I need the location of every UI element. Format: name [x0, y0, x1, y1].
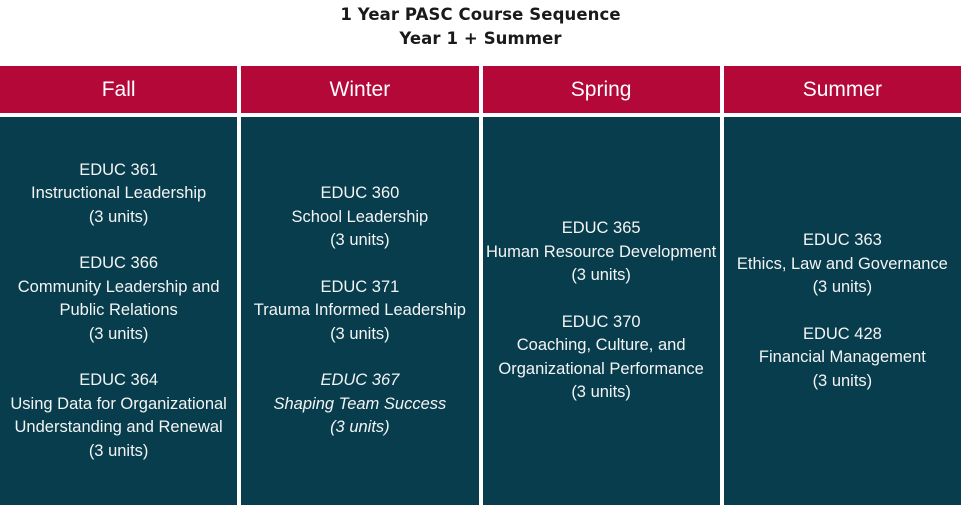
course-entry: EDUC 428Financial Management(3 units) [726, 323, 959, 394]
course-units: (3 units) [2, 206, 235, 230]
course-name: Human Resource Development [485, 241, 718, 265]
course-entry: EDUC 371Trauma Informed Leadership(3 uni… [243, 276, 476, 347]
course-entry: EDUC 370Coaching, Culture, and Organizat… [485, 311, 718, 405]
course-entry: EDUC 363Ethics, Law and Governance(3 uni… [726, 229, 959, 300]
course-list-fall: EDUC 361Instructional Leadership(3 units… [2, 159, 235, 464]
course-units: (3 units) [2, 440, 235, 464]
column-header-spring: Spring [483, 66, 720, 113]
course-units: (3 units) [485, 264, 718, 288]
table-header-row: Fall Winter Spring Summer [0, 66, 961, 113]
course-name: Financial Management [726, 346, 959, 370]
course-entry: EDUC 367Shaping Team Success(3 units) [243, 369, 476, 440]
course-name: Community Leadership and Public Relation… [2, 276, 235, 323]
page-title: 1 Year PASC Course Sequence Year 1 + Sum… [0, 0, 961, 51]
course-code: EDUC 370 [485, 311, 718, 335]
course-name: Using Data for Organizational Understand… [2, 393, 235, 440]
course-entry: EDUC 360School Leadership(3 units) [243, 182, 476, 253]
course-code: EDUC 366 [2, 252, 235, 276]
course-units: (3 units) [2, 323, 235, 347]
course-units: (3 units) [243, 229, 476, 253]
course-units: (3 units) [243, 323, 476, 347]
course-code: EDUC 367 [243, 369, 476, 393]
course-entry: EDUC 366Community Leadership and Public … [2, 252, 235, 346]
course-sequence-table: Fall Winter Spring Summer EDUC 361Instru… [0, 66, 961, 505]
course-list-summer: EDUC 363Ethics, Law and Governance(3 uni… [726, 229, 959, 393]
course-sequence-page: 1 Year PASC Course Sequence Year 1 + Sum… [0, 0, 961, 505]
course-name: Ethics, Law and Governance [726, 253, 959, 277]
course-code: EDUC 428 [726, 323, 959, 347]
course-units: (3 units) [243, 416, 476, 440]
course-entry: EDUC 361Instructional Leadership(3 units… [2, 159, 235, 230]
page-title-line-1: 1 Year PASC Course Sequence [0, 3, 961, 27]
course-entry: EDUC 364Using Data for Organizational Un… [2, 369, 235, 463]
table-body-row: EDUC 361Instructional Leadership(3 units… [0, 117, 961, 505]
column-body-winter: EDUC 360School Leadership(3 units)EDUC 3… [241, 117, 478, 505]
course-code: EDUC 364 [2, 369, 235, 393]
course-name: Coaching, Culture, and Organizational Pe… [485, 334, 718, 381]
column-header-summer: Summer [724, 66, 961, 113]
course-list-winter: EDUC 360School Leadership(3 units)EDUC 3… [243, 182, 476, 440]
course-name: Instructional Leadership [2, 182, 235, 206]
course-code: EDUC 363 [726, 229, 959, 253]
course-code: EDUC 371 [243, 276, 476, 300]
course-units: (3 units) [485, 381, 718, 405]
course-units: (3 units) [726, 370, 959, 394]
course-code: EDUC 365 [485, 217, 718, 241]
course-list-spring: EDUC 365Human Resource Development(3 uni… [485, 217, 718, 405]
course-name: School Leadership [243, 206, 476, 230]
course-code: EDUC 361 [2, 159, 235, 183]
course-units: (3 units) [726, 276, 959, 300]
column-header-winter: Winter [241, 66, 478, 113]
column-header-fall: Fall [0, 66, 237, 113]
column-body-summer: EDUC 363Ethics, Law and Governance(3 uni… [724, 117, 961, 505]
page-title-line-2: Year 1 + Summer [0, 27, 961, 51]
course-name: Trauma Informed Leadership [243, 299, 476, 323]
course-entry: EDUC 365Human Resource Development(3 uni… [485, 217, 718, 288]
course-code: EDUC 360 [243, 182, 476, 206]
column-body-fall: EDUC 361Instructional Leadership(3 units… [0, 117, 237, 505]
column-body-spring: EDUC 365Human Resource Development(3 uni… [483, 117, 720, 505]
course-name: Shaping Team Success [243, 393, 476, 417]
